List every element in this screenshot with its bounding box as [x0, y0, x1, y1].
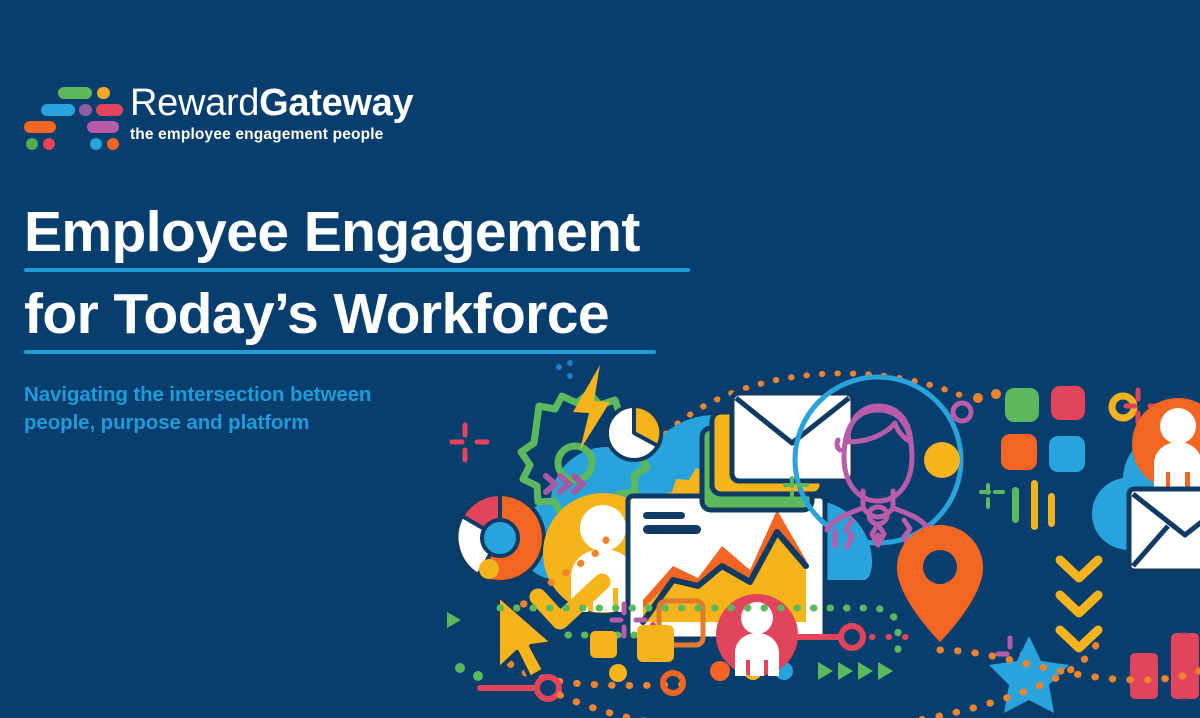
square-yellow-small: [590, 631, 617, 658]
page-title: Employee Engagement for Today’s Workforc…: [24, 198, 784, 354]
lightning-bolt-icon: [573, 365, 610, 450]
donut-chart-icon: [456, 494, 544, 582]
pie-chart-small-icon: [607, 406, 661, 460]
subtitle-line-2: people, purpose and platform: [24, 409, 494, 437]
dots-green-bottom-left: [455, 663, 483, 681]
subtitle-line-1: Navigating the intersection between: [24, 381, 494, 409]
headline-text-2: for Today’s Workforce: [24, 280, 784, 348]
chevrons-down-icon: [1060, 560, 1098, 648]
reward-gateway-blocks-icon: [24, 85, 116, 141]
collage-svg: [440, 350, 1200, 718]
headline-text-1: Employee Engagement: [24, 198, 784, 266]
headline-line-2: for Today’s Workforce: [24, 280, 784, 354]
brand-logo[interactable]: RewardGateway the employee engagement pe…: [24, 82, 413, 144]
triangle-green-edge: [447, 612, 461, 628]
sparkle-dots-blue: [556, 360, 573, 379]
envelope-stack-icon: [702, 393, 853, 510]
dot-yellow-mid: [609, 664, 627, 682]
location-pin-icon: [897, 525, 983, 642]
dot-marker-yellow: [479, 559, 499, 579]
ring-pink-bottom: [537, 677, 559, 699]
dots-orange-trail: [973, 389, 1001, 403]
plus-marks-pink: [452, 425, 487, 460]
brand-tagline: the employee engagement people: [130, 126, 413, 144]
app-tiles-icon: [1001, 386, 1085, 472]
ring-purple-small: [953, 403, 971, 421]
poster-canvas: RewardGateway the employee engagement pe…: [0, 0, 1200, 718]
bar-chart-pink-icon: [1130, 614, 1200, 699]
employee-engagement-collage: [440, 350, 1200, 718]
brand-name-light: Reward: [130, 82, 259, 124]
headline-spacer: [24, 272, 784, 280]
triangles-green-icon: [818, 662, 893, 680]
vertical-bars-icon: [1012, 480, 1055, 530]
brand-logo-text: RewardGateway the employee engagement pe…: [130, 82, 413, 144]
headline-line-1: Employee Engagement: [24, 198, 784, 272]
brand-name: RewardGateway: [130, 82, 413, 124]
headline-underline-1: [24, 268, 690, 272]
square-yellow-large: [637, 625, 674, 662]
star-icon: [989, 636, 1069, 713]
ring-orange: [663, 673, 683, 693]
sparkle-green-mid: [981, 485, 1003, 507]
page-subtitle: Navigating the intersection between peop…: [24, 381, 494, 437]
envelope-icon: [1129, 489, 1200, 571]
brand-name-bold: Gateway: [259, 82, 413, 124]
dot-yellow-large: [924, 442, 960, 478]
